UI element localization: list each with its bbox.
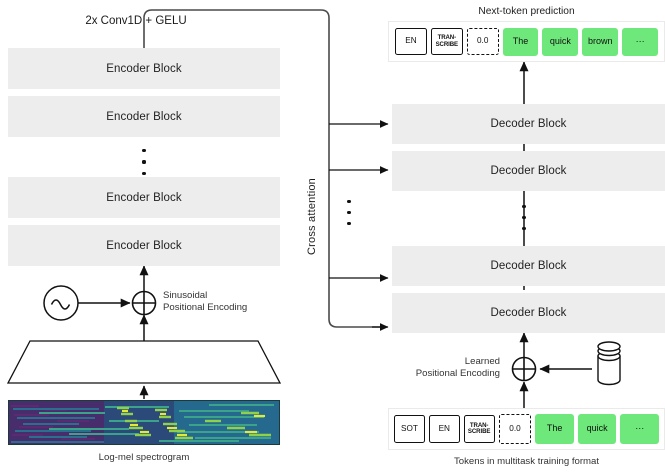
decoder-block-label: Decoder Block bbox=[490, 260, 566, 272]
encoder-block-label: Encoder Block bbox=[106, 63, 181, 75]
spectrogram-caption: Log-mel spectrogram bbox=[8, 452, 280, 463]
decoder-block-label: Decoder Block bbox=[490, 118, 566, 130]
output-token-timestamp[interactable]: 0.0 bbox=[467, 28, 499, 55]
encoder-block-4[interactable]: Encoder Block bbox=[8, 225, 280, 266]
encoder-vertical-ellipsis-icon bbox=[142, 149, 146, 175]
learned-pe-line1: Learned bbox=[396, 356, 500, 368]
architecture-diagram: Encoder Block Encoder Block Encoder Bloc… bbox=[0, 0, 665, 476]
input-token-strip: SOT EN TRAN- SCRIBE 0.0 The quick ··· bbox=[388, 408, 665, 450]
encoder-block-1[interactable]: Encoder Block bbox=[8, 48, 280, 89]
input-token-timestamp[interactable]: 0.0 bbox=[499, 414, 532, 444]
decoder-vertical-ellipsis-icon bbox=[522, 205, 526, 230]
cross-attention-vertical-ellipsis-icon bbox=[347, 200, 351, 225]
sinusoidal-pe-line2: Positional Encoding bbox=[163, 302, 283, 314]
input-token-transcribe[interactable]: TRAN- SCRIBE bbox=[464, 415, 495, 443]
encoder-block-label: Encoder Block bbox=[106, 192, 181, 204]
decoder-block-2[interactable]: Decoder Block bbox=[392, 151, 665, 191]
encoder-block-label: Encoder Block bbox=[106, 111, 181, 123]
sine-wave-circle-icon bbox=[44, 286, 78, 320]
cross-attention-label: Cross attention bbox=[306, 178, 318, 255]
encoder-block-2[interactable]: Encoder Block bbox=[8, 96, 280, 137]
input-token-the[interactable]: The bbox=[535, 414, 574, 444]
learned-positional-encoding-label: Learned Positional Encoding bbox=[396, 356, 500, 381]
output-token-quick[interactable]: quick bbox=[542, 28, 578, 56]
sinusoidal-positional-encoding-label: Sinusoidal Positional Encoding bbox=[163, 290, 283, 315]
encoder-block-3[interactable]: Encoder Block bbox=[8, 177, 280, 218]
next-token-prediction-title: Next-token prediction bbox=[388, 6, 665, 17]
input-token-sot[interactable]: SOT bbox=[394, 415, 425, 443]
output-token-en[interactable]: EN bbox=[395, 28, 427, 55]
decoder-block-label: Decoder Block bbox=[490, 307, 566, 319]
output-token-transcribe[interactable]: TRAN- SCRIBE bbox=[431, 28, 463, 55]
next-token-prediction-strip: EN TRAN- SCRIBE 0.0 The quick brown ··· bbox=[388, 21, 665, 62]
output-token-the[interactable]: The bbox=[503, 28, 539, 56]
input-token-quick[interactable]: quick bbox=[578, 414, 617, 444]
input-token-ellipsis[interactable]: ··· bbox=[620, 414, 659, 444]
decoder-block-4[interactable]: Decoder Block bbox=[392, 293, 665, 333]
output-token-ellipsis[interactable]: ··· bbox=[622, 28, 658, 56]
input-token-caption: Tokens in multitask training format bbox=[388, 456, 665, 467]
sinusoidal-pe-line1: Sinusoidal bbox=[163, 290, 283, 302]
decoder-block-1[interactable]: Decoder Block bbox=[392, 104, 665, 144]
database-cylinder-icon bbox=[598, 342, 620, 385]
log-mel-spectrogram-image bbox=[8, 400, 280, 445]
decoder-block-label: Decoder Block bbox=[490, 165, 566, 177]
decoder-block-3[interactable]: Decoder Block bbox=[392, 246, 665, 286]
input-token-en[interactable]: EN bbox=[429, 415, 460, 443]
output-token-brown[interactable]: brown bbox=[582, 28, 618, 56]
encoder-block-label: Encoder Block bbox=[106, 240, 181, 252]
conv1d-gelu-label: 2x Conv1D + GELU bbox=[0, 0, 272, 42]
conv-trapezoid bbox=[8, 341, 280, 383]
learned-pe-line2: Positional Encoding bbox=[396, 368, 500, 380]
